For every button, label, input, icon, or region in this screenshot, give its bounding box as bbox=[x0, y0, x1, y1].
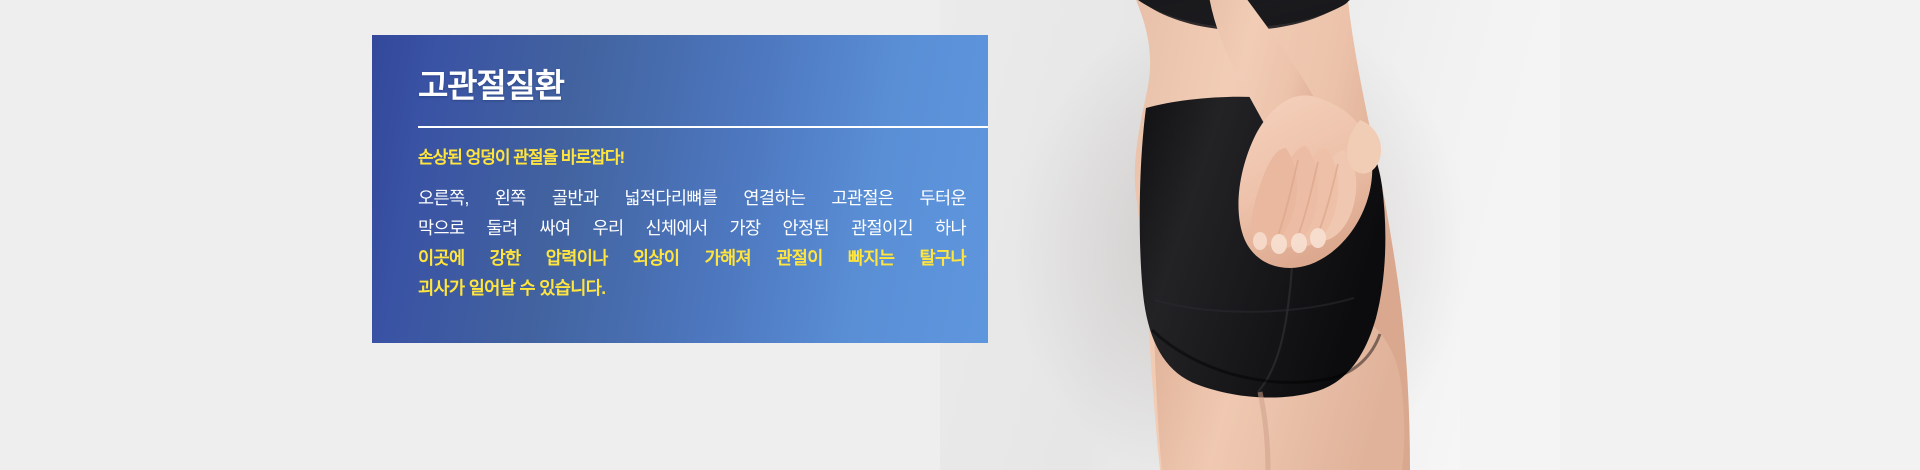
body-word: 강한 bbox=[490, 243, 521, 273]
banner-root: 고관절질환 손상된 엉덩이 관절을 바로잡다! 오른쪽,왼쪽골반과넓적다리뼈를연… bbox=[0, 0, 1920, 470]
body-line-4: 괴사가 일어날 수 있습니다. bbox=[418, 273, 974, 303]
body-word: 관절이긴 bbox=[851, 213, 913, 243]
body-word: 왼쪽 bbox=[495, 183, 526, 213]
body-word: 압력이나 bbox=[546, 243, 608, 273]
body-copy: 오른쪽,왼쪽골반과넓적다리뼈를연결하는고관절은두터운 막으로둘려싸여우리신체에서… bbox=[418, 183, 974, 303]
info-card-content: 고관절질환 손상된 엉덩이 관절을 바로잡다! 오른쪽,왼쪽골반과넓적다리뼈를연… bbox=[418, 35, 988, 343]
body-word: 관절이 bbox=[776, 243, 823, 273]
body-word: 빠지는 bbox=[848, 243, 895, 273]
hip-pain-photo bbox=[940, 0, 1560, 470]
body-word: 두터운 bbox=[919, 183, 966, 213]
body-word: 우리 bbox=[593, 213, 624, 243]
body-word: 탈구나 bbox=[919, 243, 966, 273]
body-line-1: 오른쪽,왼쪽골반과넓적다리뼈를연결하는고관절은두터운 bbox=[418, 183, 966, 213]
body-line-3: 이곳에강한압력이나외상이가해져관절이빠지는탈구나 bbox=[418, 243, 966, 273]
body-word: 가장 bbox=[730, 213, 761, 243]
body-word: 가해져 bbox=[705, 243, 752, 273]
body-word: 막으로 bbox=[418, 213, 465, 243]
page-title: 고관절질환 bbox=[418, 69, 564, 102]
body-word: 고관절은 bbox=[831, 183, 893, 213]
body-word: 넓적다리뼈를 bbox=[624, 183, 717, 213]
title-divider bbox=[418, 126, 988, 128]
body-word: 연결하는 bbox=[743, 183, 805, 213]
body-word: 오른쪽, bbox=[418, 183, 469, 213]
body-word: 외상이 bbox=[633, 243, 680, 273]
body-word: 둘려 bbox=[487, 213, 518, 243]
body-word: 싸여 bbox=[540, 213, 571, 243]
body-word: 안정된 bbox=[783, 213, 830, 243]
body-word: 골반과 bbox=[552, 183, 599, 213]
lead-headline: 손상된 엉덩이 관절을 바로잡다! bbox=[418, 149, 624, 166]
body-line-2: 막으로둘려싸여우리신체에서가장안정된관절이긴하나 bbox=[418, 213, 966, 243]
body-word: 이곳에 bbox=[418, 243, 465, 273]
body-word: 신체에서 bbox=[646, 213, 708, 243]
body-word: 하나 bbox=[935, 213, 966, 243]
background-right bbox=[1553, 0, 1920, 470]
info-card: 고관절질환 손상된 엉덩이 관절을 바로잡다! 오른쪽,왼쪽골반과넓적다리뼈를연… bbox=[372, 35, 988, 343]
